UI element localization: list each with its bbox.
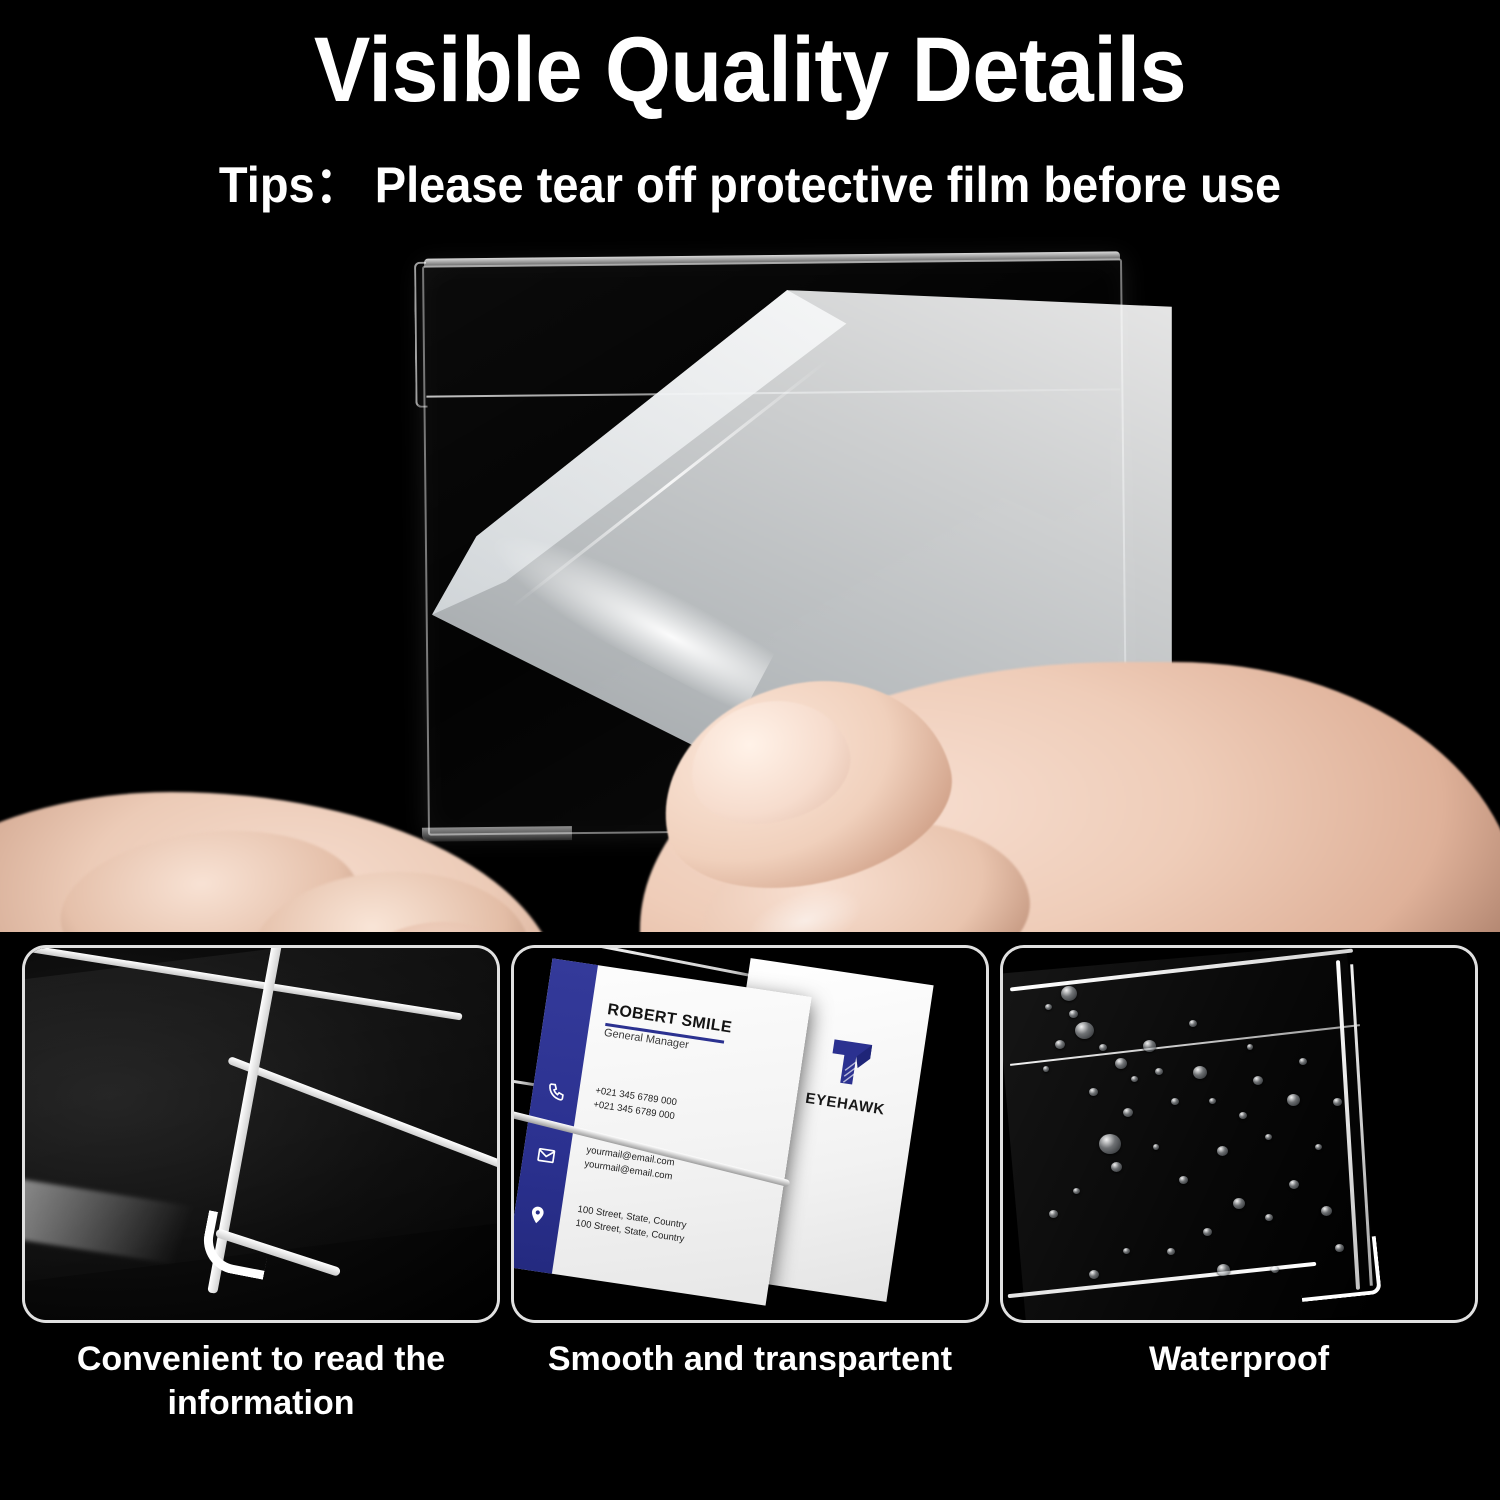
card-phone: +021 345 6789 000 +021 345 6789 000 <box>592 1084 784 1139</box>
water-droplet <box>1289 1180 1299 1189</box>
water-droplet <box>1233 1198 1245 1209</box>
water-droplet <box>1069 1010 1078 1018</box>
hero-image <box>0 232 1500 932</box>
water-droplet <box>1299 1058 1307 1065</box>
card-address: 100 Street, State, Country 100 Street, S… <box>575 1203 767 1258</box>
page-title: Visible Quality Details <box>60 22 1440 119</box>
water-droplet <box>1131 1076 1138 1082</box>
water-droplet <box>1049 1210 1058 1218</box>
header: Visible Quality Details Tips： Please tea… <box>0 0 1500 240</box>
panel-waterproof <box>1000 945 1478 1323</box>
water-droplet <box>1043 1066 1049 1072</box>
water-droplet <box>1171 1098 1179 1105</box>
water-droplet <box>1061 986 1077 1001</box>
water-droplet <box>1217 1264 1230 1276</box>
water-droplet <box>1247 1044 1253 1050</box>
panel-captions: Convenient to read the information Smoot… <box>0 1338 1500 1498</box>
phone-icon <box>544 1081 567 1104</box>
water-droplet <box>1089 1088 1098 1096</box>
water-droplet <box>1271 1266 1279 1273</box>
business-card-front: ROBERT SMILE General Manager +021 345 67… <box>511 958 812 1305</box>
water-droplet <box>1189 1020 1197 1027</box>
water-droplet <box>1111 1162 1122 1172</box>
water-droplet <box>1265 1134 1272 1140</box>
water-droplet <box>1239 1112 1247 1119</box>
water-droplet <box>1217 1146 1228 1156</box>
water-droplet <box>1335 1244 1344 1252</box>
caption-smooth: Smooth and transpartent <box>511 1338 989 1382</box>
feature-panels: EYEHAWK ROBERT SMILE General Manager +02… <box>0 945 1500 1325</box>
water-droplet <box>1167 1248 1175 1255</box>
water-droplet <box>1193 1066 1207 1079</box>
water-droplet <box>1203 1228 1212 1236</box>
water-droplet <box>1143 1040 1156 1052</box>
panel-convenient <box>22 945 500 1323</box>
water-droplet <box>1115 1058 1127 1069</box>
location-pin-icon <box>526 1204 549 1227</box>
brand-logo: EYEHAWK <box>789 1028 909 1120</box>
water-droplet <box>1315 1144 1322 1150</box>
water-droplet <box>1055 1040 1065 1049</box>
acrylic-lip <box>414 262 428 408</box>
water-droplet <box>1179 1176 1188 1184</box>
acrylic-top-edge <box>424 251 1120 267</box>
eyehawk-logo-icon <box>822 1033 881 1094</box>
caption-convenient: Convenient to read the information <box>22 1338 500 1425</box>
acrylic-bottom-edge <box>422 826 572 842</box>
page-subtitle: Tips： Please tear off protective film be… <box>45 158 1455 213</box>
water-droplet <box>1123 1248 1130 1254</box>
water-droplet <box>1123 1108 1133 1117</box>
water-droplet <box>1321 1206 1332 1216</box>
water-droplet <box>1155 1068 1163 1075</box>
water-droplet <box>1265 1214 1273 1221</box>
water-droplet <box>1073 1188 1080 1194</box>
brand-name: EYEHAWK <box>789 1088 900 1121</box>
water-droplet <box>1209 1098 1216 1104</box>
water-droplet <box>1045 1004 1052 1010</box>
water-droplet <box>1333 1098 1342 1106</box>
panel-smooth: EYEHAWK ROBERT SMILE General Manager +02… <box>511 945 989 1323</box>
caption-waterproof: Waterproof <box>1000 1338 1478 1382</box>
water-droplet <box>1075 1022 1094 1039</box>
water-droplet <box>1153 1144 1159 1150</box>
envelope-icon <box>535 1144 558 1167</box>
water-droplet <box>1099 1044 1107 1051</box>
water-droplet <box>1099 1134 1121 1154</box>
water-droplet <box>1287 1094 1300 1106</box>
water-droplet <box>1089 1270 1099 1279</box>
water-droplet <box>1253 1076 1263 1085</box>
